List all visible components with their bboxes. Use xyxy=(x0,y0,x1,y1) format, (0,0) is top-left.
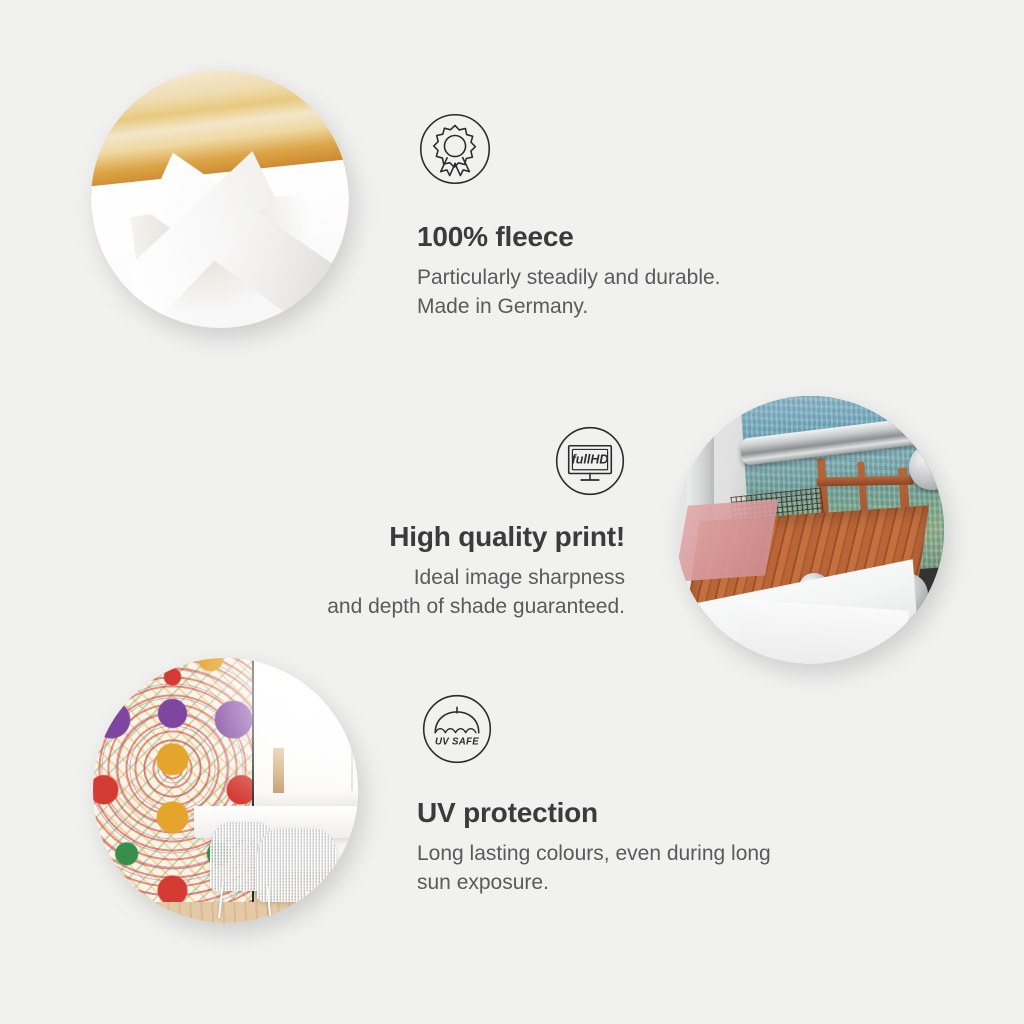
award-ribbon-icon xyxy=(418,112,492,186)
feature-infographic: 100% fleece Particularly steadily and du… xyxy=(0,0,1024,1024)
fullhd-icon-label: fullHD xyxy=(572,452,609,466)
window-frame xyxy=(351,669,353,796)
feature-text-uv: UV protection Long lasting colours, even… xyxy=(417,798,867,898)
candle-holder xyxy=(273,748,284,793)
feature-title-uv: UV protection xyxy=(417,798,867,829)
feature-text-print: High quality print! Ideal image sharpnes… xyxy=(195,522,625,622)
roller-knob-top xyxy=(909,444,944,490)
feature-title-print: High quality print! xyxy=(195,522,625,553)
feature-description-uv: Long lasting colours, even during long s… xyxy=(417,840,867,898)
feature-description-fleece: Particularly steadily and durable. Made … xyxy=(417,264,847,322)
uv-safe-umbrella-icon: UV SAFE xyxy=(420,692,494,766)
feature-description-print: Ideal image sharpness and depth of shade… xyxy=(195,564,625,622)
wire-chair-right xyxy=(257,828,337,902)
uv-safe-icon-label: UV SAFE xyxy=(435,736,479,747)
printer-output-tray-lower xyxy=(737,599,909,664)
printed-deck-highlight xyxy=(676,499,779,582)
photo-inner xyxy=(676,396,944,664)
photo-inner xyxy=(91,70,349,328)
photo-inner xyxy=(93,658,358,923)
fullhd-monitor-icon: fullHD xyxy=(553,424,627,498)
mandala-wallpaper-room-photo xyxy=(93,658,358,923)
feature-title-fleece: 100% fleece xyxy=(417,222,847,253)
large-format-printer-photo xyxy=(676,396,944,664)
feature-text-fleece: 100% fleece Particularly steadily and du… xyxy=(417,222,847,322)
curled-fleece-wallpaper-photo xyxy=(91,70,349,328)
